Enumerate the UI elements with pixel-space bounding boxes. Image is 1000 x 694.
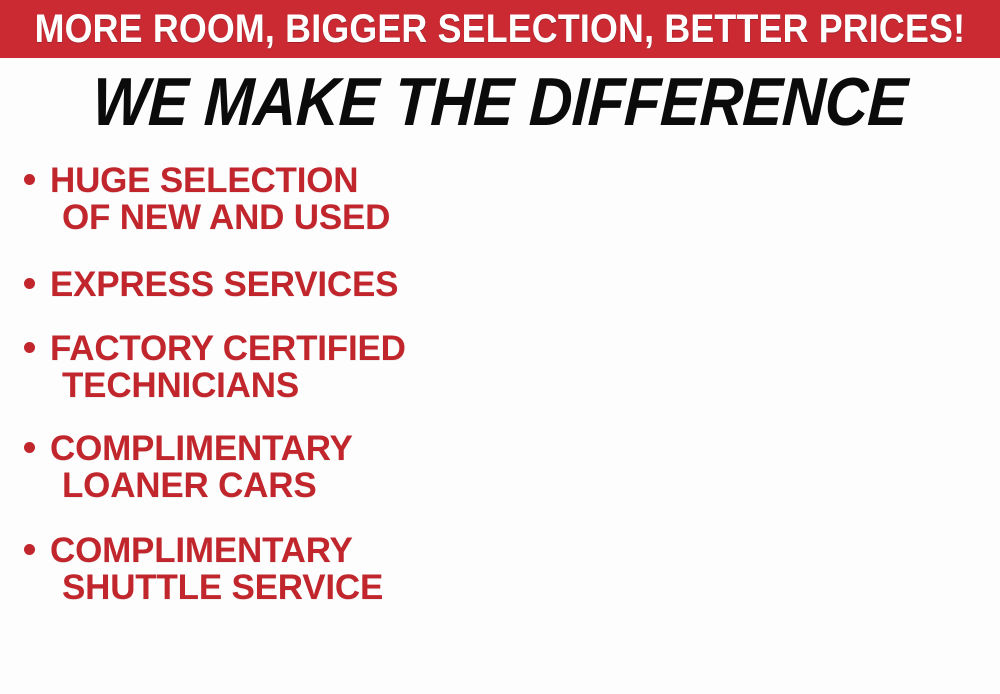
benefit-item-express-services: EXPRESS SERVICES <box>0 266 520 303</box>
benefit-item-home-delivery: HOME DELIVERY <box>476 264 1000 301</box>
bullet-dot-icon <box>24 442 35 453</box>
benefit-item-72-hour-exchange-policy: 72 HOUR EXCHANGEPOLICY <box>476 162 1000 236</box>
bullet-dot-icon <box>24 174 35 185</box>
benefits-column-left: HUGE SELECTIONOF NEW AND USED EXPRESS SE… <box>0 152 476 694</box>
top-banner: MORE ROOM, BIGGER SELECTION, BETTER PRIC… <box>0 0 1000 58</box>
headline-container: WE MAKE THE DIFFERENCE <box>0 66 1000 138</box>
benefit-text: FACTORY CERTIFIEDTECHNICIANS <box>50 330 520 404</box>
benefit-line-2: TECHNICIANS <box>50 367 520 404</box>
benefit-item-family-owned-and-operated: FAMILY OWNED ANDOPERATED <box>476 490 1000 564</box>
benefit-item-customer-lounge-wifi: CUSTOMER LOUNGEWIFI <box>476 326 1000 400</box>
benefits-columns: HUGE SELECTIONOF NEW AND USED EXPRESS SE… <box>0 152 1000 694</box>
benefit-text: COMPLIMENTARYLOANER CARS <box>50 430 520 504</box>
main-headline: WE MAKE THE DIFFERENCE <box>91 68 909 136</box>
benefit-item-complimentary-loaner-cars: COMPLIMENTARYLOANER CARS <box>0 430 520 504</box>
benefit-item-complimentary-shuttle-service: COMPLIMENTARYSHUTTLE SERVICE <box>0 532 520 606</box>
benefit-text: COMPLIMENTARYSHUTTLE SERVICE <box>50 532 520 606</box>
benefit-item-free-history-reports: FREE HISTORYREPORTS <box>476 589 1000 663</box>
benefit-line-1: COMPLIMENTARY <box>50 531 353 570</box>
benefit-line-1: FACTORY CERTIFIED <box>50 329 406 368</box>
benefit-line-1: COMPLIMENTARY <box>50 429 353 468</box>
bullet-dot-icon <box>24 278 35 289</box>
benefit-line-2: SHUTTLE SERVICE <box>50 569 520 606</box>
benefit-text: EXPRESS SERVICES <box>50 266 520 303</box>
banner-headline-text: MORE ROOM, BIGGER SELECTION, BETTER PRIC… <box>35 9 966 49</box>
benefit-text: HUGE SELECTIONOF NEW AND USED <box>50 162 520 236</box>
benefits-column-right: 72 HOUR EXCHANGEPOLICY HOME DELIVERY CUS… <box>476 152 1000 694</box>
benefit-item-factory-certified-technicians: FACTORY CERTIFIEDTECHNICIANS <box>0 330 520 404</box>
benefit-line-1: EXPRESS SERVICES <box>50 265 398 304</box>
benefit-item-huge-selection: HUGE SELECTIONOF NEW AND USED <box>0 162 520 236</box>
benefit-line-2: OF NEW AND USED <box>50 199 520 236</box>
bullet-dot-icon <box>24 544 35 555</box>
benefit-item-military-discounts: MILITARY DISCOUNTS <box>476 428 1000 465</box>
benefit-line-2: LOANER CARS <box>50 467 520 504</box>
promo-poster: MORE ROOM, BIGGER SELECTION, BETTER PRIC… <box>0 0 1000 694</box>
benefit-line-1: HUGE SELECTION <box>50 161 358 200</box>
bullet-dot-icon <box>24 342 35 353</box>
